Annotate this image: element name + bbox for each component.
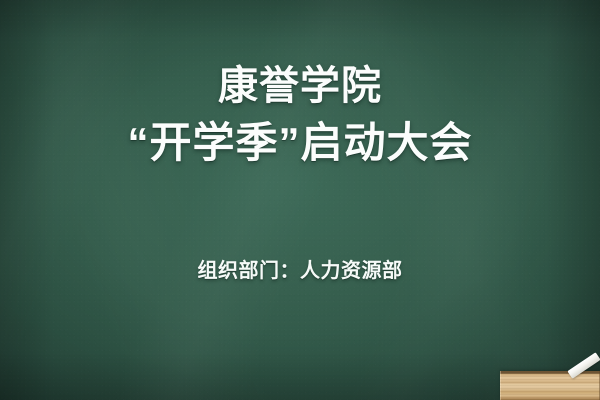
slide-title-line-1: 康誉学院: [0, 62, 600, 111]
slide-title-line-2: “开学季”启动大会: [0, 117, 600, 168]
slide-content: 康誉学院 “开学季”启动大会 组织部门：人力资源部: [0, 0, 600, 400]
chalk-tray-icon: [500, 371, 600, 400]
chalkboard-slide: 康誉学院 “开学季”启动大会 组织部门：人力资源部: [0, 0, 600, 400]
slide-subtitle: 组织部门：人力资源部: [0, 254, 600, 283]
